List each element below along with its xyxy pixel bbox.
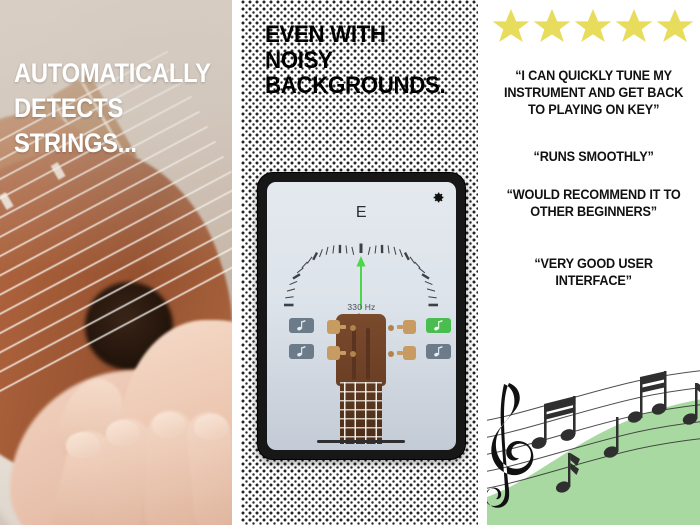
tuner-screen: E: [267, 182, 456, 450]
star-rating: [487, 0, 700, 47]
tuning-peg-4[interactable]: [403, 320, 416, 334]
music-staff-artwork: [487, 365, 700, 525]
middle-headline-line-3: BACKGROUNDS.: [265, 73, 451, 99]
fretboard: [340, 382, 382, 444]
fretboard-strings: [340, 382, 382, 444]
star-icon-5: [655, 7, 695, 47]
review-quote-3: “WOULD RECOMMEND IT TO OTHER BEGINNERS”: [493, 186, 693, 220]
string-post-1: [350, 325, 356, 331]
string-button-2[interactable]: [426, 318, 451, 333]
note-group-1: [530, 396, 577, 451]
instrument-headstock: [267, 308, 456, 450]
string-button-3[interactable]: [289, 344, 314, 359]
panel-divider-right: [478, 0, 487, 525]
left-headline-line-1: AUTOMATICALLY: [14, 56, 203, 91]
tuner-device: E: [257, 172, 466, 460]
panel-automatic-detection: AUTOMATICALLY DETECTS STRINGS...: [0, 0, 232, 525]
tuning-peg-1[interactable]: [327, 320, 340, 334]
app-store-screenshot-collage: AUTOMATICALLY DETECTS STRINGS... EVEN WI…: [0, 0, 700, 525]
middle-headline-line-1: EVEN WITH: [265, 22, 451, 48]
string-button-4[interactable]: [426, 344, 451, 359]
star-icon-4: [614, 7, 654, 47]
headstock-slot-right: [366, 328, 370, 380]
star-icon-3: [573, 7, 613, 47]
panel-reviews: “I CAN QUICKLY TUNE MY INSTRUMENT AND GE…: [487, 0, 700, 525]
panel-divider-left: [232, 0, 241, 525]
detected-note: E: [267, 204, 456, 222]
string-post-4: [388, 325, 394, 331]
gear-icon[interactable]: [432, 191, 445, 204]
panel-noisy-backgrounds: EVEN WITH NOISY BACKGROUNDS. E: [241, 0, 478, 525]
left-headline-line-3: STRINGS...: [14, 126, 203, 161]
peg-stem-4: [397, 325, 403, 329]
string-post-2: [350, 351, 356, 357]
string-button-1[interactable]: [289, 318, 314, 333]
peg-stem-1: [340, 325, 346, 329]
peg-stem-3: [397, 351, 403, 355]
peg-stem-2: [340, 351, 346, 355]
tuning-peg-2[interactable]: [327, 346, 340, 360]
tuning-peg-3[interactable]: [403, 346, 416, 360]
instrument-nut: [317, 440, 405, 443]
review-quote-2: “RUNS SMOOTHLY”: [493, 148, 693, 165]
review-quote-4: “VERY GOOD USER INTERFACE”: [493, 255, 693, 289]
left-headline: AUTOMATICALLY DETECTS STRINGS...: [14, 56, 203, 161]
review-quote-1: “I CAN QUICKLY TUNE MY INSTRUMENT AND GE…: [493, 67, 693, 118]
middle-headline-line-2: NOISY: [265, 48, 451, 74]
star-icon-2: [532, 7, 572, 47]
star-icon-1: [491, 7, 531, 47]
string-post-3: [388, 351, 394, 357]
green-wave-shape: [487, 399, 700, 525]
middle-headline: EVEN WITH NOISY BACKGROUNDS.: [265, 22, 451, 99]
left-headline-line-2: DETECTS: [14, 91, 203, 126]
